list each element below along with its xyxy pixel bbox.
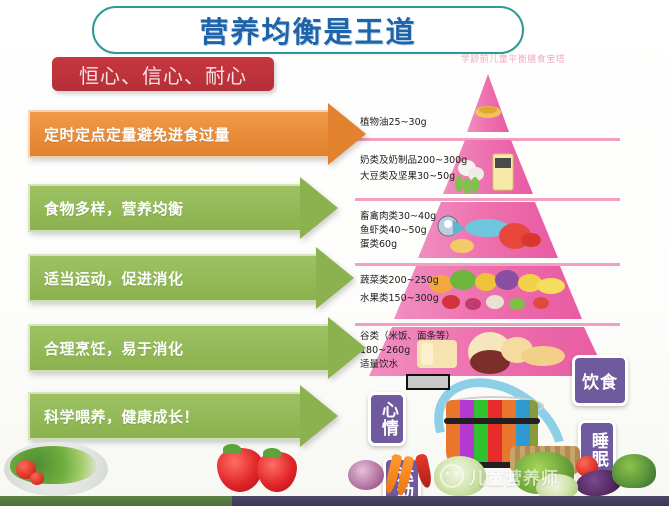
photo-veg-basket	[480, 436, 669, 498]
bottom-bar	[0, 496, 669, 506]
arrow-bar-timing: 定时定点定量避免进食过量	[28, 110, 366, 158]
arrow-head-icon	[328, 103, 366, 165]
pyramid-label-meat: 畜禽肉类30~40g	[360, 210, 436, 223]
pyramid-label-grain-amount: 180~260g	[360, 344, 410, 357]
pyramid-label-dairy: 奶类及奶制品200~300g	[360, 154, 467, 167]
motto-badge: 恒心、信心、耐心	[52, 57, 274, 91]
page-title-text: 营养均衡是王道	[199, 9, 416, 51]
arrow-bar-variety: 食物多样，营养均衡	[28, 184, 338, 232]
pyramid-label-egg: 蛋类60g	[360, 238, 397, 251]
food-photo-strip	[0, 436, 669, 498]
barrel-hoop	[444, 418, 540, 424]
keyword-badge-diet[interactable]: 饮食	[572, 355, 628, 406]
arrow-head-icon	[300, 177, 338, 239]
slide-canvas: 植物油25~30g 奶类及奶制品200~300g 大豆类及坚果30~50g 畜禽…	[0, 0, 669, 506]
arrow-label-variety: 食物多样，营养均衡	[30, 198, 184, 219]
barrel-tag-icon	[406, 374, 450, 390]
arrow-bar-feeding: 科学喂养，健康成长！	[28, 392, 338, 440]
arrow-bar-cooking: 合理烹饪，易于消化	[28, 324, 366, 372]
motto-badge-label: 恒心、信心、耐心	[79, 60, 247, 89]
arrow-label-exercise: 适当运动，促进消化	[30, 268, 184, 289]
arrow-head-icon	[328, 317, 366, 379]
pyramid-label-vegetable: 蔬菜类200~250g	[360, 274, 439, 287]
pyramid-label-fish: 鱼虾类40~50g	[360, 224, 427, 237]
arrow-label-feeding: 科学喂养，健康成长！	[30, 406, 199, 427]
page-title: 营养均衡是王道	[92, 6, 524, 54]
food-pyramid: 植物油25~30g 奶类及奶制品200~300g 大豆类及坚果30~50g 畜禽…	[355, 68, 620, 380]
bottom-bar-accent	[0, 496, 232, 506]
arrow-label-cooking: 合理烹饪，易于消化	[30, 338, 184, 359]
arrow-label-timing: 定时定点定量避免进食过量	[30, 124, 230, 145]
pyramid-label-grain: 谷类（米饭、面条等）	[360, 330, 455, 343]
pyramid-label-oils: 植物油25~30g	[360, 116, 427, 129]
photo-salad-bowl	[0, 436, 180, 498]
photo-vegetables	[330, 436, 490, 498]
pyramid-label-soy: 大豆类及坚果30~50g	[360, 170, 455, 183]
pyramid-label-fruit: 水果类150~300g	[360, 292, 439, 305]
arrow-bar-exercise: 适当运动，促进消化	[28, 254, 354, 302]
arrow-head-icon	[316, 247, 354, 309]
